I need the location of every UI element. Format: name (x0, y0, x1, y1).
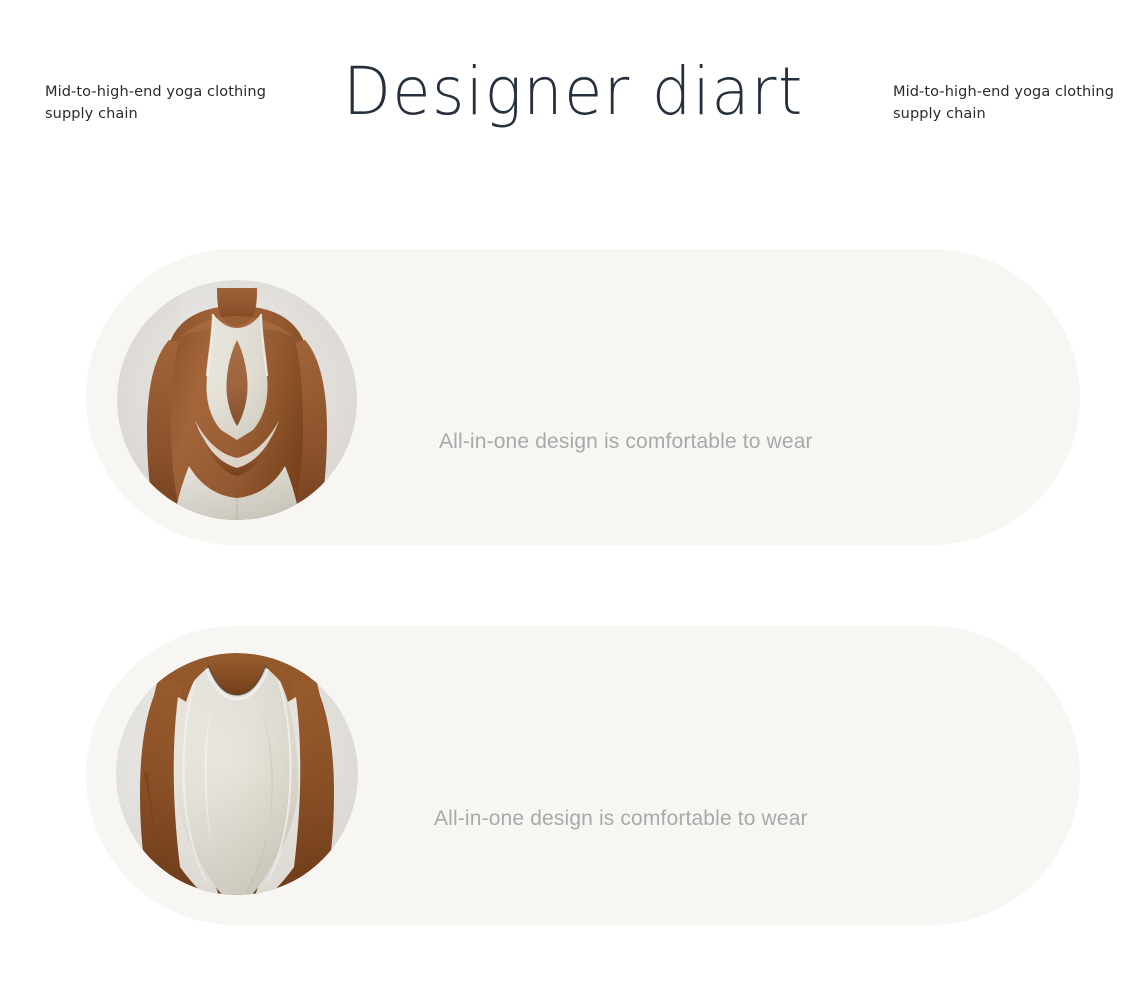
woman-front-sleeveless-yoga-top-image (116, 653, 358, 895)
tagline-right: Mid-to-high-end yoga clothing supply cha… (893, 81, 1143, 125)
feature-card-1-photo (117, 280, 357, 520)
page-header: Mid-to-high-end yoga clothing supply cha… (0, 0, 1147, 200)
feature-card-1-caption: All-in-one design is comfortable to wear (439, 430, 813, 454)
woman-back-racerback-yoga-top-image (117, 280, 357, 520)
page-root: Mid-to-high-end yoga clothing supply cha… (0, 0, 1147, 1002)
feature-card-2-caption: All-in-one design is comfortable to wear (434, 807, 808, 831)
feature-card-2-photo (116, 653, 358, 895)
